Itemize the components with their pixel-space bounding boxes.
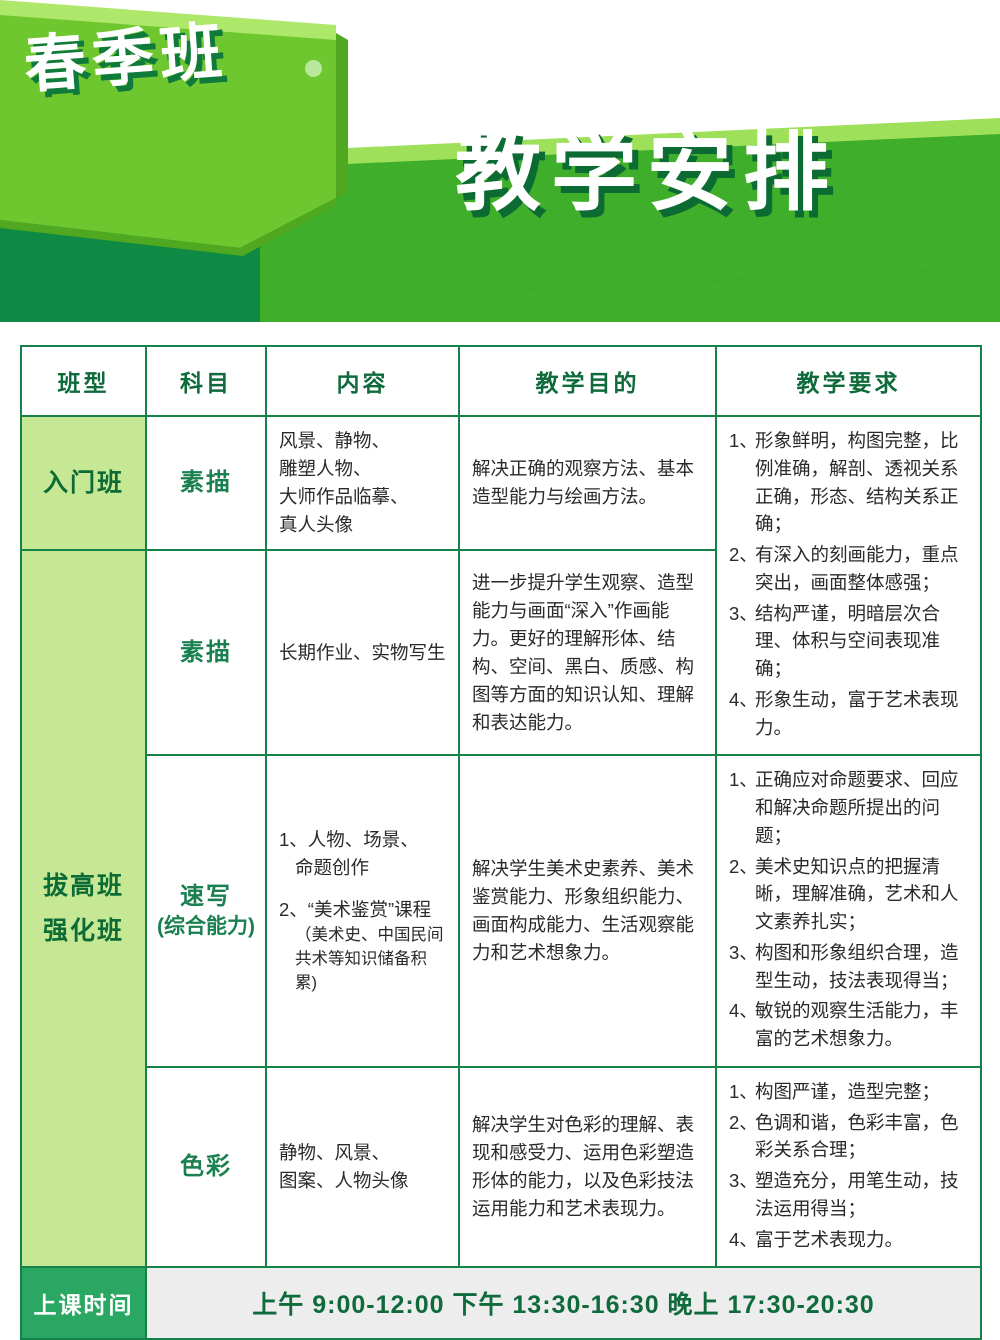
requirement-item: 1、构图严谨，造型完整；: [729, 1078, 968, 1106]
requirement-item: 1、正确应对命题要求、回应和解决命题所提出的问题；: [729, 766, 968, 849]
requirement-list-1: 1、形象鲜明，构图完整，比例准确，解剖、透视关系正确，形态、结构关系正确； 2、…: [729, 427, 968, 741]
requirement-number: 4、: [729, 997, 758, 1025]
cell-class-type-entry: 入门班: [21, 416, 146, 550]
cell-requirement-1: 1、形象鲜明，构图完整，比例准确，解剖、透视关系正确，形态、结构关系正确； 2、…: [716, 416, 981, 755]
requirement-item: 4、敏锐的观察生活能力，丰富的艺术想象力。: [729, 997, 968, 1053]
subject-note: (综合能力): [147, 913, 265, 941]
content-item-1: 1、人物、场景、: [279, 826, 446, 854]
requirement-item: 1、形象鲜明，构图完整，比例准确，解剖、透视关系正确，形态、结构关系正确；: [729, 427, 968, 538]
value-class-time: 上午 9:00-12:00 下午 13:30-16:30 晚上 17:30-20…: [146, 1267, 981, 1339]
cell-content-2: 长期作业、实物写生: [266, 550, 459, 755]
header-purpose: 教学目的: [459, 346, 716, 416]
requirement-number: 3、: [729, 1167, 758, 1195]
content-line: 雕塑人物、: [279, 455, 446, 483]
requirement-item: 2、色调和谐，色彩丰富，色彩关系合理；: [729, 1109, 968, 1165]
requirement-item: 4、形象生动，富于艺术表现力。: [729, 686, 968, 742]
header-requirement: 教学要求: [716, 346, 981, 416]
header-subject: 科目: [146, 346, 266, 416]
class-type-line-1: 拔高班: [22, 864, 145, 909]
requirement-text: 形象生动，富于艺术表现力。: [755, 689, 959, 738]
requirement-number: 2、: [729, 853, 758, 881]
cell-purpose-2: 进一步提升学生观察、造型能力与画面“深入”作画能力。更好的理解形体、结构、空间、…: [459, 550, 716, 755]
content-item-2-sub1: （美术史、中国民间: [279, 924, 446, 948]
subject-name: 速写: [147, 881, 265, 913]
ribbon-right-edge: [336, 33, 348, 198]
class-type-line-2: 强化班: [22, 909, 145, 954]
header-class-type: 班型: [21, 346, 146, 416]
ribbon-dot-icon: [305, 60, 322, 77]
content-item-1b: 命题创作: [279, 854, 446, 882]
schedule-table: 班型 科目 内容 教学目的 教学要求 入门班 素描 风景、静物、 雕塑人物、 大…: [20, 345, 982, 1340]
cell-content-1: 风景、静物、 雕塑人物、 大师作品临摹、 真人头像: [266, 416, 459, 550]
cell-class-type-advanced: 拔高班 强化班: [21, 550, 146, 1267]
cell-subject-sketch-2: 素描: [146, 550, 266, 755]
cell-purpose-4: 解决学生对色彩的理解、表现和感受力、运用色彩塑造形体的能力，以及色彩技法运用能力…: [459, 1067, 716, 1268]
requirement-item: 3、结构严谨，明暗层次合理、体积与空间表现准确；: [729, 600, 968, 683]
cell-purpose-3: 解决学生美术史素养、美术鉴赏能力、形象组织能力、画面构成能力、生活观察能力和艺术…: [459, 755, 716, 1067]
requirement-item: 3、构图和形象组织合理，造型生动，技法表现得当；: [729, 939, 968, 995]
requirement-number: 3、: [729, 939, 758, 967]
requirement-number: 4、: [729, 686, 758, 714]
cell-requirement-4: 1、构图严谨，造型完整； 2、色调和谐，色彩丰富，色彩关系合理； 3、塑造充分，…: [716, 1067, 981, 1268]
content-item-2-sub2: 共术等知识储备积累): [279, 948, 446, 996]
content-line: 静物、风景、: [279, 1139, 446, 1167]
requirement-text: 有深入的刻画能力，重点突出，画面整体感强；: [755, 544, 959, 593]
requirement-text: 构图和形象组织合理，造型生动，技法表现得当；: [755, 942, 959, 991]
content-line: 图案、人物头像: [279, 1167, 446, 1195]
table-row: 色彩 静物、风景、 图案、人物头像 解决学生对色彩的理解、表现和感受力、运用色彩…: [21, 1067, 981, 1268]
cell-subject-sketch-1: 素描: [146, 416, 266, 550]
content-item-2: 2、“美术鉴赏”课程: [279, 896, 446, 924]
requirement-text: 富于艺术表现力。: [755, 1229, 903, 1250]
content-line: 风景、静物、: [279, 427, 446, 455]
requirement-number: 1、: [729, 766, 758, 794]
schedule-table-wrapper: 班型 科目 内容 教学目的 教学要求 入门班 素描 风景、静物、 雕塑人物、 大…: [20, 345, 980, 1340]
requirement-number: 2、: [729, 541, 758, 569]
header-banner: 春季班 教学安排: [0, 0, 1000, 322]
table-row: 入门班 素描 风景、静物、 雕塑人物、 大师作品临摹、 真人头像 解决正确的观察…: [21, 416, 981, 550]
content-gap: [279, 882, 446, 896]
table-row: 速写 (综合能力) 1、人物、场景、 命题创作 2、“美术鉴赏”课程 （美术史、…: [21, 755, 981, 1067]
poster-root: 春季班 教学安排 班型 科目 内容 教学目的 教学要求 入门班: [0, 0, 1000, 1340]
cell-content-3: 1、人物、场景、 命题创作 2、“美术鉴赏”课程 （美术史、中国民间 共术等知识…: [266, 755, 459, 1067]
header-content: 内容: [266, 346, 459, 416]
requirement-item: 4、富于艺术表现力。: [729, 1226, 968, 1254]
requirement-item: 2、有深入的刻画能力，重点突出，画面整体感强；: [729, 541, 968, 597]
page-title: 教学安排: [455, 130, 935, 216]
requirement-number: 3、: [729, 600, 758, 628]
requirement-text: 正确应对命题要求、回应和解决命题所提出的问题；: [755, 769, 959, 846]
requirement-number: 2、: [729, 1109, 758, 1137]
requirement-list-3: 1、正确应对命题要求、回应和解决命题所提出的问题； 2、美术史知识点的把握清晰，…: [729, 766, 968, 1053]
requirement-text: 结构严谨，明暗层次合理、体积与空间表现准确；: [755, 603, 940, 680]
table-header-row: 班型 科目 内容 教学目的 教学要求: [21, 346, 981, 416]
requirement-item: 2、美术史知识点的把握清晰，理解准确，艺术和人文素养扎实；: [729, 853, 968, 936]
requirement-text: 形象鲜明，构图完整，比例准确，解剖、透视关系正确，形态、结构关系正确；: [755, 430, 959, 534]
requirement-number: 1、: [729, 1078, 758, 1106]
requirement-text: 构图严谨，造型完整；: [755, 1081, 940, 1102]
cell-subject-speedsketch: 速写 (综合能力): [146, 755, 266, 1067]
requirement-text: 美术史知识点的把握清晰，理解准确，艺术和人文素养扎实；: [755, 856, 959, 933]
requirement-number: 1、: [729, 427, 758, 455]
class-time-row: 上课时间 上午 9:00-12:00 下午 13:30-16:30 晚上 17:…: [21, 1267, 981, 1339]
label-class-time: 上课时间: [21, 1267, 146, 1339]
requirement-number: 4、: [729, 1226, 758, 1254]
requirement-text: 色调和谐，色彩丰富，色彩关系合理；: [755, 1112, 959, 1161]
requirement-item: 3、塑造充分，用笔生动，技法运用得当；: [729, 1167, 968, 1223]
content-line: 真人头像: [279, 511, 446, 539]
content-line: 大师作品临摹、: [279, 483, 446, 511]
cell-content-4: 静物、风景、 图案、人物头像: [266, 1067, 459, 1268]
cell-requirement-3: 1、正确应对命题要求、回应和解决命题所提出的问题； 2、美术史知识点的把握清晰，…: [716, 755, 981, 1067]
requirement-text: 塑造充分，用笔生动，技法运用得当；: [755, 1170, 959, 1219]
requirement-text: 敏锐的观察生活能力，丰富的艺术想象力。: [755, 1000, 959, 1049]
cell-subject-color: 色彩: [146, 1067, 266, 1268]
requirement-list-4: 1、构图严谨，造型完整； 2、色调和谐，色彩丰富，色彩关系合理； 3、塑造充分，…: [729, 1078, 968, 1254]
cell-purpose-1: 解决正确的观察方法、基本造型能力与绘画方法。: [459, 416, 716, 550]
